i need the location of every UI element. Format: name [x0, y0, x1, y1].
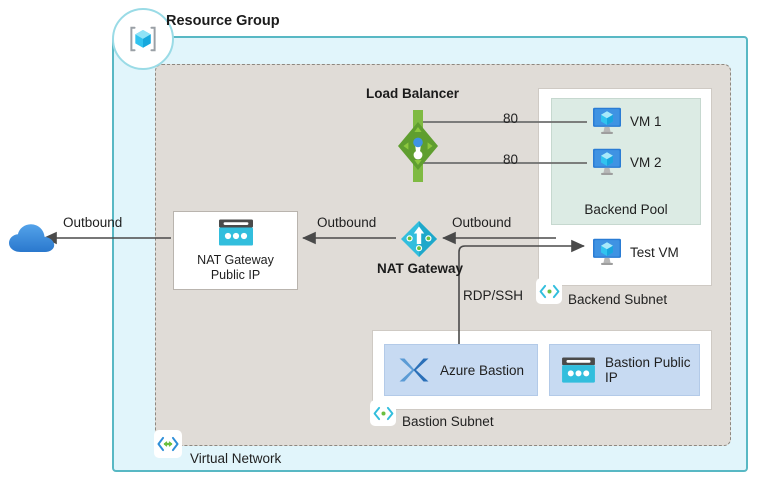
bastion-public-ip[interactable]: Bastion Public IP [549, 344, 700, 396]
edge-label-outbound-subnet: Outbound [452, 215, 511, 230]
backend-subnet-icon [536, 278, 562, 304]
backend-pool-label: Backend Pool [551, 202, 701, 217]
virtual-network-icon [154, 430, 182, 458]
azure-bastion-icon [397, 355, 431, 385]
vm-2-label: VM 2 [630, 155, 662, 170]
load-balancer-icon [396, 110, 440, 182]
virtual-machine-icon [592, 148, 622, 176]
bastion-public-ip-line2: IP [605, 370, 691, 385]
edge-label-port-80-vm1: 80 [503, 111, 518, 126]
backend-subnet-label: Backend Subnet [568, 292, 667, 307]
public-ip-address-icon [560, 356, 597, 385]
vm-1-label: VM 1 [630, 114, 662, 129]
virtual-machine-icon [592, 238, 622, 266]
edge-label-rdp-ssh: RDP/SSH [463, 288, 523, 303]
nat-gateway-glyph-icon [400, 220, 438, 258]
load-balancer-title: Load Balancer [366, 86, 459, 101]
virtual-network-label: Virtual Network [190, 451, 281, 466]
vm-1[interactable]: VM 1 [592, 107, 662, 135]
cloud-icon [8, 222, 56, 256]
nat-gateway-label: NAT Gateway [374, 261, 466, 276]
resource-group-icon [112, 8, 174, 70]
test-vm[interactable]: Test VM [592, 238, 679, 266]
internet-cloud [8, 222, 56, 256]
edge-label-port-80-vm2: 80 [503, 152, 518, 167]
vm-2[interactable]: VM 2 [592, 148, 662, 176]
virtual-network-glyph-icon [157, 436, 179, 452]
resource-group-title: Resource Group [166, 13, 280, 29]
diagram-canvas: Backend Pool Outbound Outbound Outbound … [0, 0, 764, 498]
virtual-machine-icon [592, 107, 622, 135]
bastion-subnet-icon [370, 400, 396, 426]
resource-group-cube-icon [128, 24, 158, 54]
bastion-subnet-label: Bastion Subnet [402, 414, 494, 429]
nat-gateway-public-ip-line1: NAT Gateway [197, 253, 274, 268]
subnet-icon [373, 406, 394, 421]
edge-label-outbound-publicip: Outbound [317, 215, 376, 230]
bastion-public-ip-label: Bastion Public IP [605, 355, 691, 385]
edge-label-outbound-internet: Outbound [63, 215, 122, 230]
test-vm-label: Test VM [630, 245, 679, 260]
nat-gateway-public-ip-line2: Public IP [197, 268, 274, 283]
nat-gateway-icon[interactable] [400, 220, 438, 258]
nat-gateway-public-ip[interactable]: NAT Gateway Public IP [173, 211, 298, 290]
subnet-icon [539, 284, 560, 299]
nat-gateway-public-ip-label: NAT Gateway Public IP [197, 253, 274, 283]
azure-bastion[interactable]: Azure Bastion [384, 344, 538, 396]
azure-bastion-label: Azure Bastion [440, 363, 524, 378]
bastion-public-ip-line1: Bastion Public [605, 355, 691, 370]
load-balancer-glyph-icon [396, 110, 440, 182]
public-ip-address-icon [217, 218, 255, 248]
